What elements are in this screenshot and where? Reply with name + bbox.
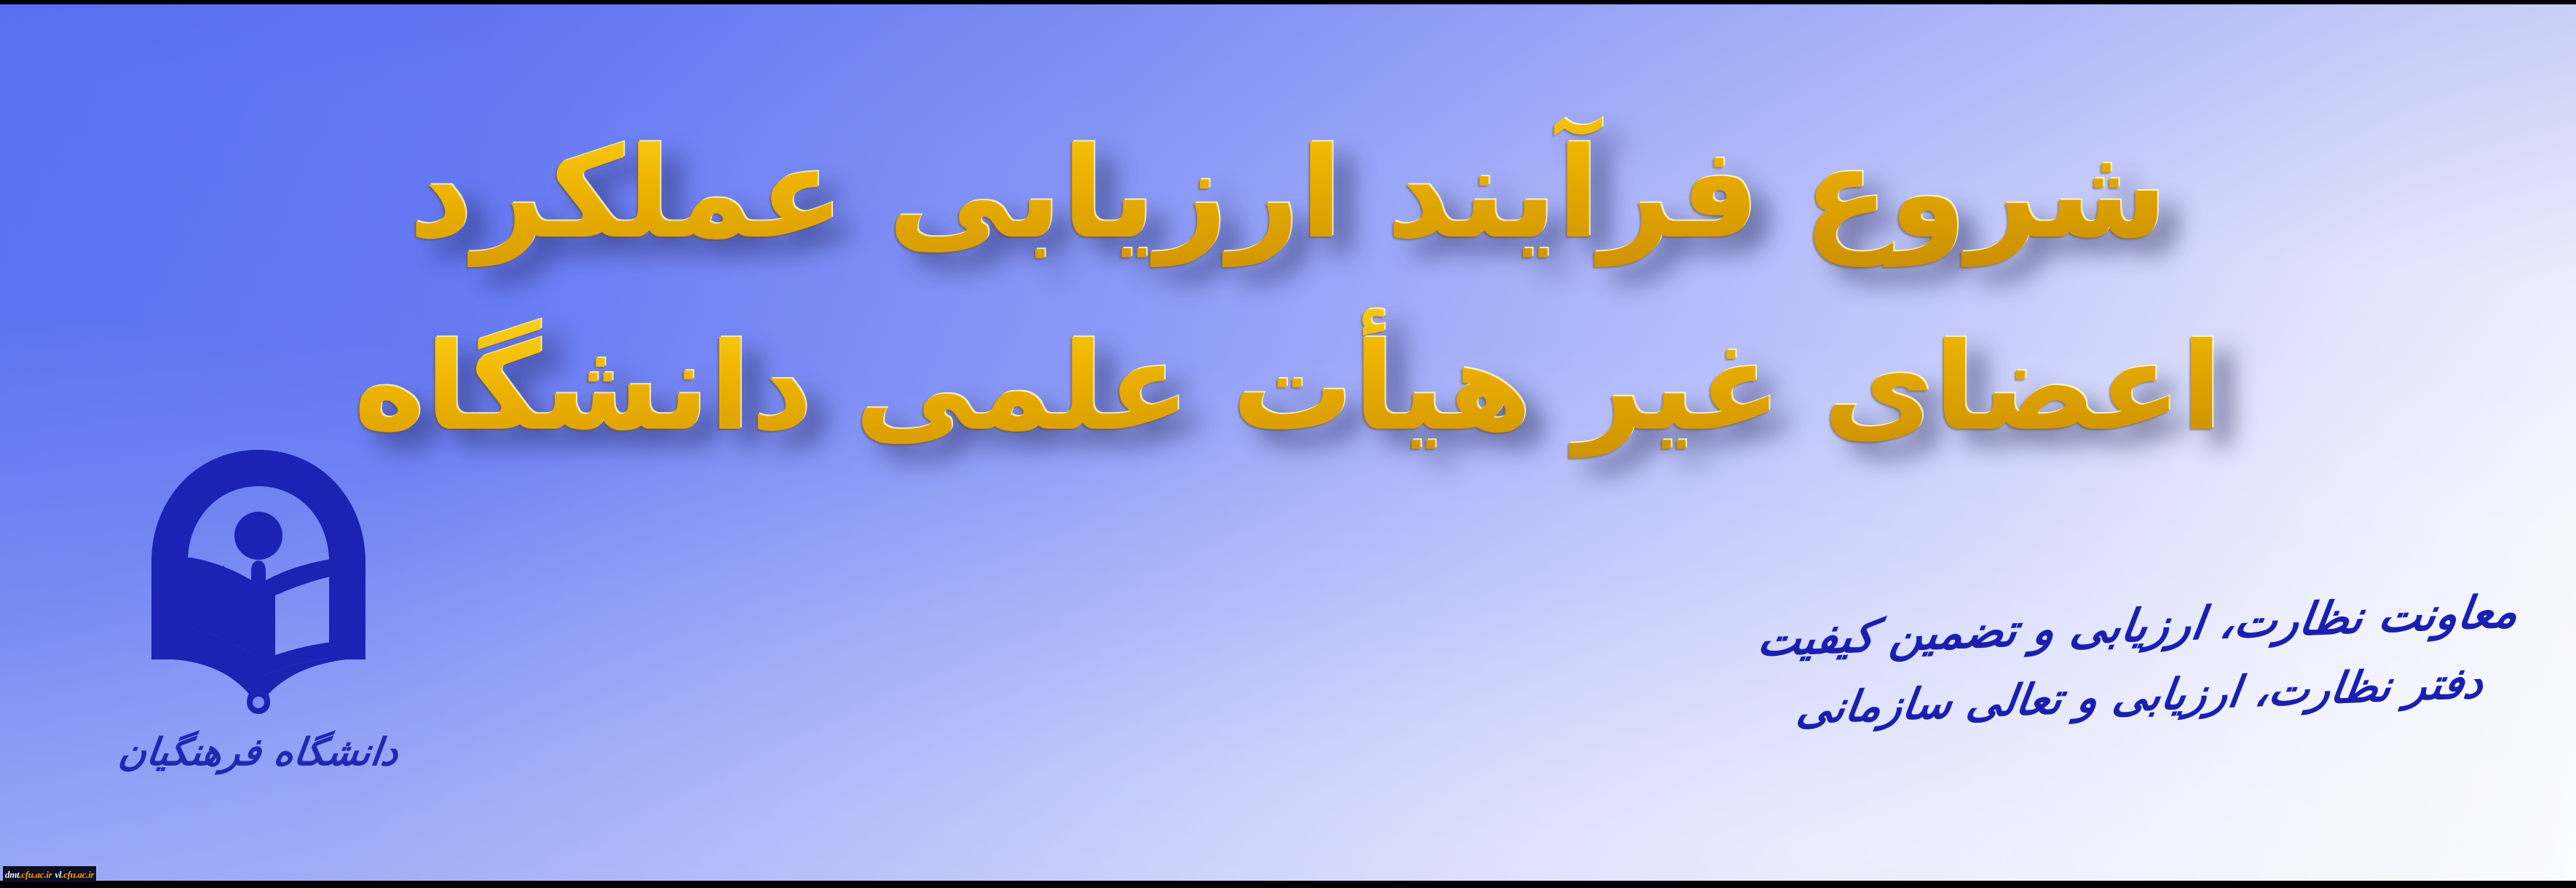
department-block: معاونت نظارت، ارزیابی و تضمین کیفیت دفتر…	[1763, 575, 2518, 718]
university-logo: دانشگاه فرهنگیان	[109, 445, 408, 831]
site-watermark: dmt.cfu.ac.irvl.cfu.ac.ir	[3, 866, 96, 882]
letterbox-bar-bottom	[0, 881, 2576, 888]
watermark-site1-domain: .cfu.ac.ir	[19, 870, 52, 879]
letterbox-bar-top	[0, 0, 2576, 4]
farhangian-logo-icon	[146, 445, 371, 737]
watermark-site2-domain: .cfu.ac.ir	[61, 870, 94, 879]
watermark-site1-name: dmt	[5, 870, 19, 879]
watermark-site2-name: vl	[55, 870, 61, 879]
announcement-banner: شروع فرآیند ارزیابی عملکرد اعضای غیر هیأ…	[0, 0, 2576, 888]
logo-caption: دانشگاه فرهنگیان	[107, 734, 410, 772]
